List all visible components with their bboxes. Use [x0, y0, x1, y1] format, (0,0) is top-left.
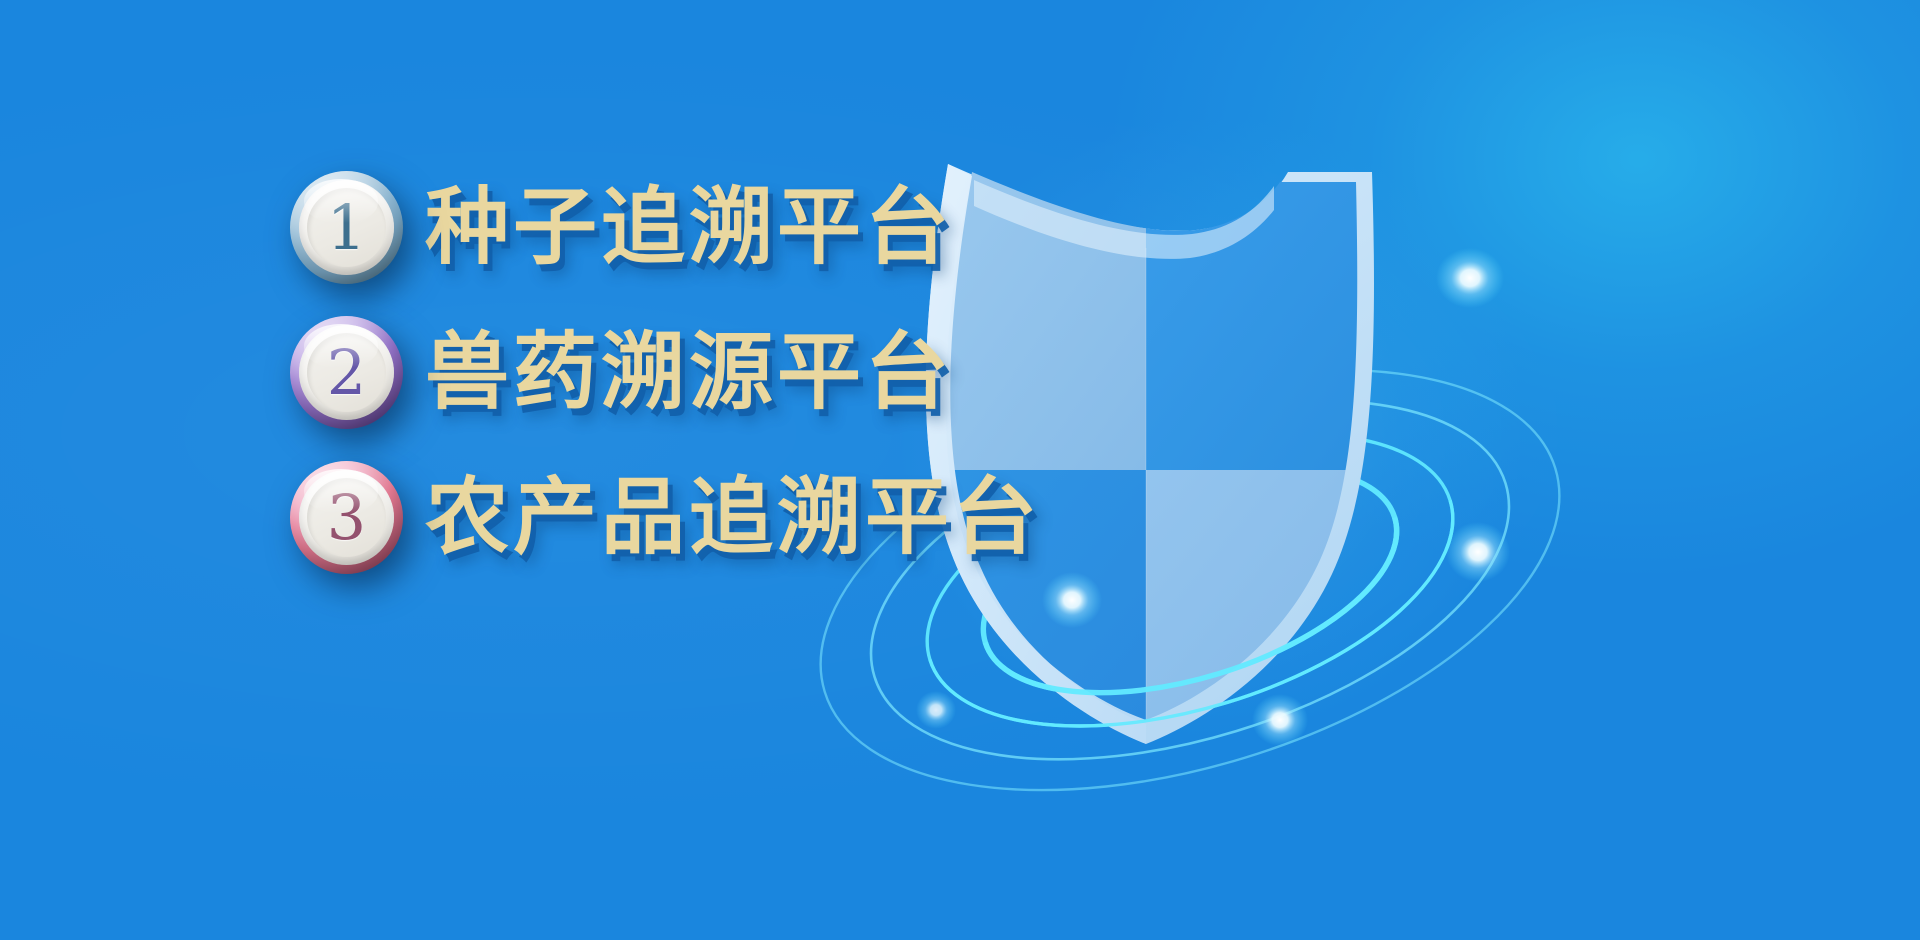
- glow-dot-3: [1042, 572, 1102, 628]
- platform-list: 1 种子追溯平台 2 兽药溯源平台 3 农产品追溯平台: [290, 155, 1050, 590]
- badge-one-number: 1: [327, 197, 366, 259]
- platform-label-3: 农产品追溯平台: [425, 475, 1041, 561]
- glow-dot-2: [1446, 522, 1510, 582]
- glow-dot-4: [1252, 694, 1308, 746]
- badge-two-number: 2: [327, 342, 366, 404]
- platform-row-1[interactable]: 1 种子追溯平台: [290, 155, 1050, 300]
- glow-dot-5: [916, 691, 956, 729]
- banner-stage: 1 种子追溯平台 2 兽药溯源平台 3 农产品追溯平台: [0, 0, 1920, 940]
- platform-label-2: 兽药溯源平台: [425, 330, 953, 416]
- platform-row-3[interactable]: 3 农产品追溯平台: [290, 445, 1050, 590]
- platform-row-2[interactable]: 2 兽药溯源平台: [290, 300, 1050, 445]
- badge-two[interactable]: 2: [290, 316, 403, 429]
- glow-dot-1: [1436, 248, 1504, 308]
- badge-one[interactable]: 1: [290, 171, 403, 284]
- badge-three-number: 3: [327, 487, 366, 549]
- platform-label-1: 种子追溯平台: [425, 185, 953, 271]
- badge-three[interactable]: 3: [290, 461, 403, 574]
